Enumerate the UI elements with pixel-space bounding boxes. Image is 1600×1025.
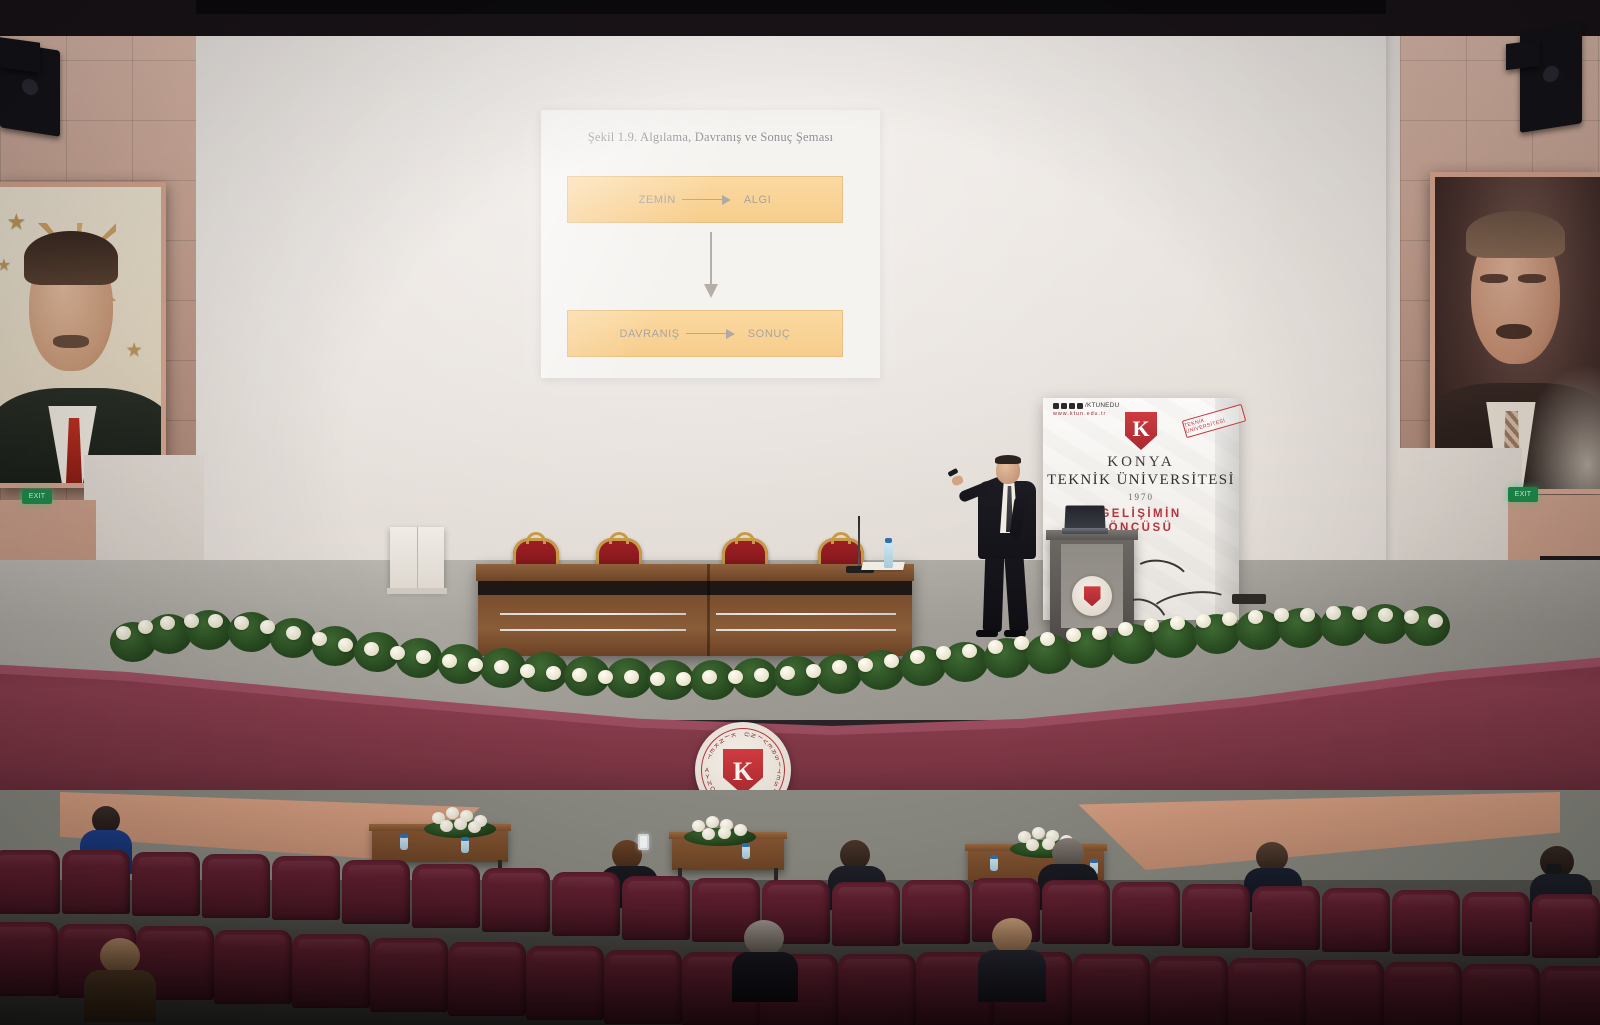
auditorium-seat[interactable] (552, 872, 620, 936)
auditorium-seat[interactable] (832, 882, 900, 946)
banner-social-handle: /KTUNEDU (1053, 402, 1119, 409)
arrow-right-icon (686, 329, 742, 339)
auditorium-seat[interactable] (1540, 966, 1600, 1025)
moustache-shape (53, 335, 88, 348)
ceiling-band (0, 0, 1600, 36)
auditorium-seat[interactable] (1252, 886, 1320, 950)
auditorium-seat[interactable] (1112, 882, 1180, 946)
auditorium-seat[interactable] (482, 868, 550, 932)
auditorium-seat[interactable] (342, 860, 410, 924)
ataturk-portrait (1430, 172, 1600, 494)
twitter-icon (1061, 403, 1067, 409)
water-cup (990, 858, 998, 871)
social-handle-text: /KTUNEDU (1085, 402, 1119, 409)
laptop-keyboard (1062, 528, 1108, 534)
laptop-screen (1064, 505, 1105, 529)
audience-member (88, 938, 154, 1010)
arrow-down-icon (704, 232, 718, 302)
ceiling-speaker-icon (0, 37, 40, 73)
slide-label-zemin: ZEMİN (639, 194, 676, 206)
bottle-cap (885, 538, 892, 543)
auditorium-seat[interactable] (902, 880, 970, 944)
auditorium-seat[interactable] (1228, 958, 1306, 1025)
youtube-icon (1077, 403, 1083, 409)
portrait-image: ★ ★ ★ (0, 187, 161, 483)
audience-member (980, 918, 1046, 990)
auditorium-seat[interactable] (1042, 880, 1110, 944)
facebook-icon (1053, 403, 1059, 409)
cabinet-divider (417, 527, 418, 589)
water-bottle (884, 542, 893, 568)
speaker-cone-icon (1543, 65, 1559, 84)
auditorium-seat[interactable] (1462, 964, 1540, 1025)
instagram-icon (1069, 403, 1075, 409)
water-cup (461, 840, 469, 853)
phone-icon (638, 834, 649, 850)
auditorium-seat[interactable] (526, 946, 604, 1020)
star-icon: ★ (0, 258, 11, 274)
slide-label-davranis: DAVRANIŞ (620, 328, 680, 340)
water-cup (742, 846, 750, 859)
flower-arrangement (684, 812, 756, 846)
portrait-image (1435, 177, 1600, 489)
eyebrow-shape (1480, 274, 1508, 283)
auditorium-seat[interactable] (1532, 894, 1600, 958)
eyebrow-shape (1518, 274, 1546, 283)
glare-overlay (1518, 364, 1600, 489)
exit-sign: EXIT (1508, 487, 1538, 502)
hair-shape (24, 231, 117, 284)
flower-arrangement (424, 804, 496, 838)
papers-on-table (861, 562, 905, 570)
auditorium-seat[interactable] (1462, 892, 1530, 956)
auditorium-seat[interactable] (448, 942, 526, 1016)
speaker-cone-icon (22, 77, 38, 96)
microphone-icon (858, 516, 860, 568)
auditorium-seat[interactable] (1322, 888, 1390, 952)
audience-member (734, 920, 798, 990)
slide-box-top: ZEMİN ALGI (567, 176, 843, 223)
cabinet-base (387, 588, 447, 594)
exit-sign: EXIT (22, 489, 52, 504)
flower-garland (110, 596, 1460, 706)
slide-label-sonuc: SONUÇ (748, 328, 791, 340)
star-icon: ★ (6, 211, 26, 233)
storage-cabinet (390, 527, 444, 589)
ceiling-speaker-icon (1506, 40, 1540, 70)
auditorium-seat[interactable] (838, 954, 916, 1025)
laptop (1062, 505, 1108, 535)
auditorium-seat[interactable] (132, 852, 200, 916)
arrow-right-icon (682, 195, 738, 205)
auditorium-seat[interactable] (62, 850, 130, 914)
auditorium-seat[interactable] (292, 934, 370, 1008)
moustache-shape (1496, 324, 1532, 340)
table-shadow-band (478, 581, 912, 595)
auditorium-seat[interactable] (622, 876, 690, 940)
auditorium-seat[interactable] (1182, 884, 1250, 948)
projection-screen: Şekil 1.9. Algılama, Davranış ve Sonuç Ş… (541, 110, 880, 378)
banner-line1: KONYA (1043, 454, 1239, 471)
emblem-logo-letter: K (723, 751, 763, 793)
auditorium-seat[interactable] (0, 922, 58, 996)
auditorium-scene: Şekil 1.9. Algılama, Davranış ve Sonuç Ş… (0, 0, 1600, 1025)
auditorium-seat[interactable] (1072, 954, 1150, 1025)
ceiling-inner-band (196, 0, 1386, 14)
banner-year: 1970 (1043, 492, 1239, 502)
auditorium-seat[interactable] (214, 930, 292, 1004)
auditorium-seat[interactable] (0, 850, 60, 914)
hair-shape (995, 455, 1021, 464)
auditorium-seat[interactable] (604, 950, 682, 1024)
banner-website: www.ktun.edu.tr (1053, 411, 1106, 417)
slide-box-bottom: DAVRANIŞ SONUÇ (567, 310, 843, 357)
water-cup (400, 837, 408, 850)
president-portrait: ★ ★ ★ (0, 182, 166, 488)
auditorium-seat[interactable] (370, 938, 448, 1012)
hair-shape (1466, 211, 1565, 258)
ceiling-speaker-icon (1520, 23, 1582, 133)
slide-title: Şekil 1.9. Algılama, Davranış ve Sonuç Ş… (541, 130, 880, 145)
slide-label-algi: ALGI (744, 194, 771, 206)
auditorium-seat[interactable] (1150, 956, 1228, 1025)
auditorium-seat[interactable] (1392, 890, 1460, 954)
auditorium-seat[interactable] (412, 864, 480, 928)
auditorium-seat[interactable] (1306, 960, 1384, 1025)
banner-line2: TEKNİK ÜNİVERSİTESİ (1043, 472, 1239, 489)
auditorium-seat[interactable] (272, 856, 340, 920)
auditorium-seat[interactable] (202, 854, 270, 918)
auditorium-seat[interactable] (1384, 962, 1462, 1025)
star-icon: ★ (126, 341, 143, 360)
